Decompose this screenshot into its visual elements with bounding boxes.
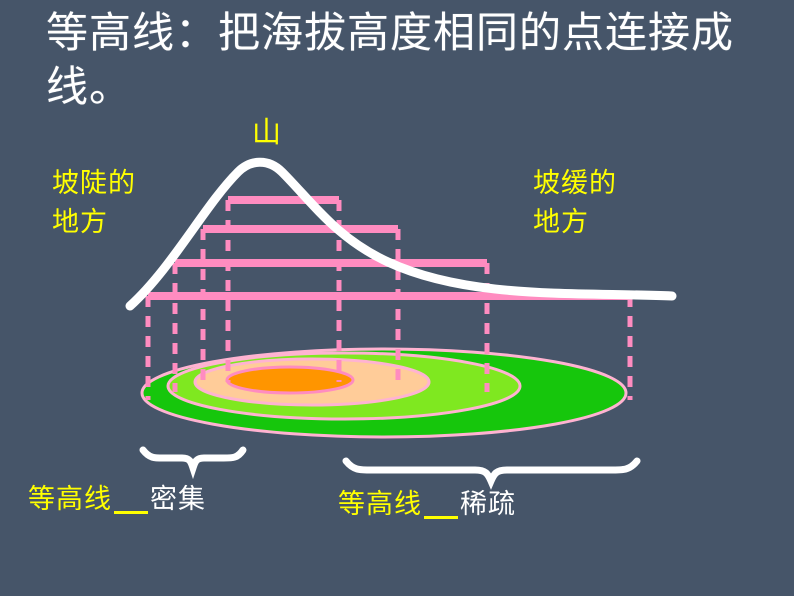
label-steep-slope: 坡陡的 地方 bbox=[52, 164, 202, 242]
caption-dense-prefix: 等高线 bbox=[28, 484, 112, 514]
caption-sparse-prefix: 等高线 bbox=[338, 489, 422, 519]
caption-dense: 等高线密集 bbox=[28, 486, 206, 513]
label-gentle-slope: 坡缓的 地方 bbox=[533, 164, 683, 242]
caption-dense-blank bbox=[114, 486, 148, 514]
caption-sparse-blank bbox=[424, 491, 458, 519]
contour-map-ellipses bbox=[142, 349, 626, 437]
dense-brace bbox=[143, 450, 243, 468]
sparse-brace bbox=[346, 461, 637, 481]
slide-canvas: 等高线：把海拔高度相同的点连接成线。 bbox=[0, 0, 794, 596]
caption-sparse: 等高线稀疏 bbox=[338, 491, 516, 518]
caption-dense-answer: 密集 bbox=[150, 484, 206, 514]
caption-sparse-answer: 稀疏 bbox=[460, 489, 516, 519]
ellipse-core-orange bbox=[227, 367, 353, 393]
label-peak: 山 bbox=[252, 112, 282, 154]
braces bbox=[143, 450, 637, 481]
